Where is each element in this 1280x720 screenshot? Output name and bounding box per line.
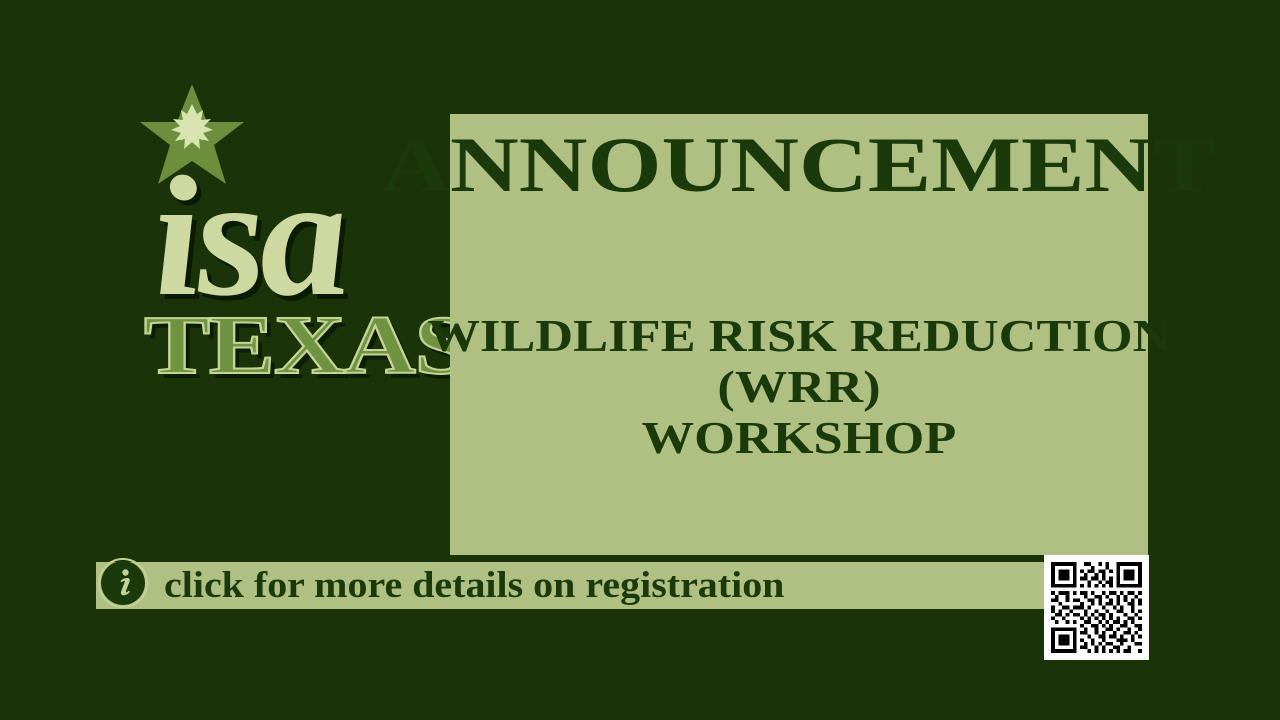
announcement-panel: ANNOUNCEMENT WILDLIFE RISK REDUCTION (WR… <box>450 114 1148 555</box>
registration-cta-bar[interactable]: click for more details on registration <box>96 562 1044 609</box>
page-title: ANNOUNCEMENT <box>373 120 1225 210</box>
workshop-subtitle: WILDLIFE RISK REDUCTION (WRR) WORKSHOP <box>401 310 1197 463</box>
subtitle-line-3: WORKSHOP <box>401 412 1197 463</box>
registration-cta-text[interactable]: click for more details on registration <box>164 563 784 609</box>
subtitle-line-2: (WRR) <box>401 361 1197 412</box>
qr-code-icon[interactable] <box>1044 555 1149 660</box>
announcement-slide: isa TEXAS ANNOUNCEMENT WILDLIFE RISK RED… <box>0 0 1280 720</box>
subtitle-line-1: WILDLIFE RISK REDUCTION <box>401 310 1197 361</box>
info-circle-icon <box>98 558 148 608</box>
